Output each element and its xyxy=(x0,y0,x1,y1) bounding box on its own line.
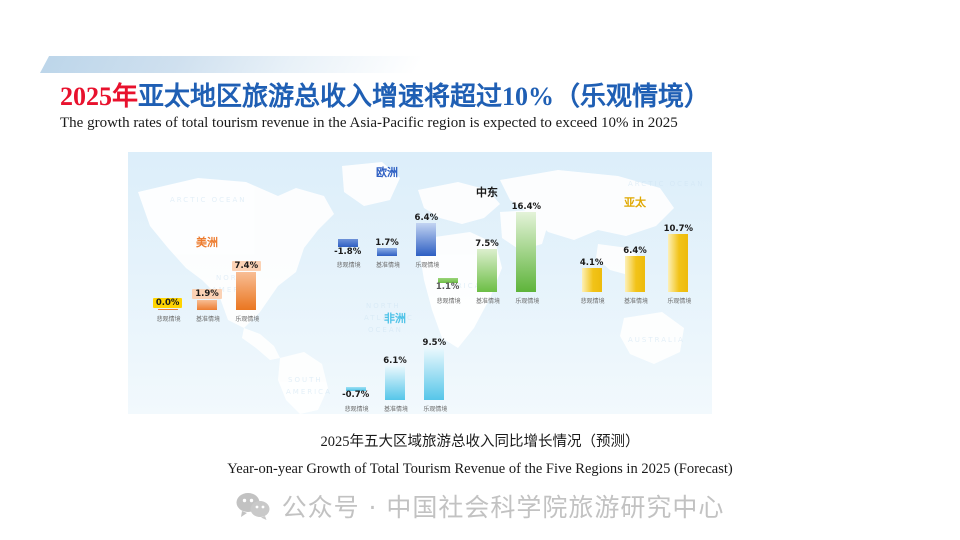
bar-shape xyxy=(197,300,217,310)
bar-value-label: -0.7% xyxy=(342,391,369,400)
region-title-middle-east: 中东 xyxy=(428,184,546,200)
bar-value-label: 1.1% xyxy=(436,283,460,292)
category-labels-americas: 悲观情境 基准情境 乐观情境 xyxy=(148,317,266,324)
category-label: 乐观情境 xyxy=(515,299,537,306)
bar-value-label: 7.4% xyxy=(232,261,262,272)
category-labels-africa: 悲观情境 基准情境 乐观情境 xyxy=(336,407,454,414)
page-subtitle: The growth rates of total tourism revenu… xyxy=(60,115,678,132)
bar-shape xyxy=(582,268,602,292)
watermark-text: 公众号 · 中国社会科学院旅游研究中心 xyxy=(282,488,725,524)
bar-column-optimistic[interactable]: 10.7% xyxy=(667,225,689,293)
bar-column-baseline[interactable]: 6.1% xyxy=(384,357,406,401)
region-title-europe: 欧洲 xyxy=(328,164,446,180)
category-labels-middle-east: 悲观情境 基准情境 乐观情境 xyxy=(428,299,546,306)
bar-value-label: 1.7% xyxy=(375,239,399,248)
category-label: 悲观情境 xyxy=(337,263,359,270)
bar-value-label: 0.0% xyxy=(153,298,183,309)
category-label: 基准情境 xyxy=(376,263,398,270)
bar-shape xyxy=(516,212,536,292)
bar-column-baseline[interactable]: 1.9% xyxy=(196,289,218,311)
bars-americas: 0.0% 1.9% 7.4% xyxy=(148,261,266,311)
bar-column-optimistic[interactable]: 9.5% xyxy=(423,339,445,401)
category-label: 悲观情境 xyxy=(157,317,179,324)
category-labels-asia-pacific: 悲观情境 基准情境 乐观情境 xyxy=(570,299,700,306)
page-title-year: 2025年 xyxy=(60,82,138,111)
bars-asia-pacific: 4.1% 6.4% 10.7% xyxy=(570,225,700,293)
category-label: 乐观情境 xyxy=(667,299,689,306)
page-title: 2025年亚太地区旅游总收入增速将超过10%（乐观情境） xyxy=(60,76,710,113)
bar-value-label: -1.8% xyxy=(334,248,361,257)
bar-shape xyxy=(424,348,444,400)
bar-shape xyxy=(385,366,405,400)
category-label: 基准情境 xyxy=(624,299,646,306)
bar-shape xyxy=(477,249,497,292)
region-group-americas: 美洲 0.0% 1.9% 7.4% 悲观情境 基准情境 乐观情境 xyxy=(148,234,266,324)
wechat-icon xyxy=(236,492,270,520)
category-label: 悲观情境 xyxy=(437,299,459,306)
watermark: 公众号 · 中国社会科学院旅游研究中心 xyxy=(0,488,960,524)
svg-text:ARCTIC OCEAN: ARCTIC OCEAN xyxy=(628,180,705,188)
region-group-asia-pacific: 亚太 4.1% 6.4% 10.7% 悲观情境 基准情境 乐观情境 xyxy=(570,194,700,306)
category-label: 基准情境 xyxy=(384,407,406,414)
bar-shape xyxy=(377,248,397,256)
region-group-africa: 非洲 -0.7% 6.1% 9.5% 悲观情境 基准情境 乐观情境 xyxy=(336,310,454,414)
bar-column-baseline[interactable]: 7.5% xyxy=(476,240,498,293)
bar-column-optimistic[interactable]: 7.4% xyxy=(235,261,257,311)
category-label: 乐观情境 xyxy=(423,407,445,414)
bars-middle-east: 1.1% 7.5% 16.4% xyxy=(428,203,546,293)
bar-column-pessimistic[interactable]: -0.7% xyxy=(345,387,367,401)
bar-value-label: 1.9% xyxy=(192,289,222,300)
chart-caption-en: Year-on-year Growth of Total Tourism Rev… xyxy=(0,461,960,478)
bar-shape xyxy=(668,234,688,292)
bar-column-optimistic[interactable]: 16.4% xyxy=(515,203,537,293)
bar-shape xyxy=(236,272,256,310)
bars-africa: -0.7% 6.1% 9.5% xyxy=(336,339,454,401)
bar-column-pessimistic[interactable]: 0.0% xyxy=(157,298,179,311)
bar-column-pessimistic[interactable]: 4.1% xyxy=(581,259,603,293)
page-title-rest: 亚太地区旅游总收入增速将超过10%（乐观情境） xyxy=(138,82,710,111)
wechat-icon-svg xyxy=(236,492,270,520)
svg-text:NORTH: NORTH xyxy=(366,302,401,310)
category-label: 悲观情境 xyxy=(345,407,367,414)
bar-value-label: 7.5% xyxy=(475,240,499,249)
chart-canvas: ARCTIC OCEAN ARCTIC OCEAN NORTH AMERICA … xyxy=(128,152,712,414)
category-label: 基准情境 xyxy=(196,317,218,324)
region-title-asia-pacific: 亚太 xyxy=(570,194,700,210)
bar-value-label: 6.1% xyxy=(383,357,407,366)
bar-value-label: 16.4% xyxy=(512,203,542,212)
bar-column-baseline[interactable]: 6.4% xyxy=(624,247,646,293)
svg-text:AUSTRALIA: AUSTRALIA xyxy=(628,336,685,344)
bar-column-pessimistic[interactable]: -1.8% xyxy=(337,239,359,257)
region-title-africa: 非洲 xyxy=(336,310,454,326)
bar-column-baseline[interactable]: 1.7% xyxy=(376,239,398,257)
category-label: 基准情境 xyxy=(476,299,498,306)
category-label: 悲观情境 xyxy=(581,299,603,306)
bar-value-label: 6.4% xyxy=(623,247,647,256)
svg-text:SOUTH: SOUTH xyxy=(288,376,323,384)
bar-value-label: 4.1% xyxy=(580,259,604,268)
header-accent-band xyxy=(40,56,424,73)
bar-shape xyxy=(338,239,358,247)
bar-value-label: 10.7% xyxy=(664,225,694,234)
bar-shape xyxy=(625,256,645,292)
chart-caption-cn: 2025年五大区域旅游总收入同比增长情况（预测） xyxy=(0,430,960,451)
svg-text:AMERICA: AMERICA xyxy=(286,388,332,396)
category-label: 乐观情境 xyxy=(235,317,257,324)
region-group-middle-east: 中东 1.1% 7.5% 16.4% 悲观情境 基准情境 乐观情境 xyxy=(428,184,546,306)
svg-text:ARCTIC OCEAN: ARCTIC OCEAN xyxy=(170,196,247,204)
bar-column-pessimistic[interactable]: 1.1% xyxy=(437,278,459,293)
region-title-americas: 美洲 xyxy=(148,234,266,250)
bar-shape xyxy=(158,309,178,310)
bar-value-label: 9.5% xyxy=(423,339,447,348)
